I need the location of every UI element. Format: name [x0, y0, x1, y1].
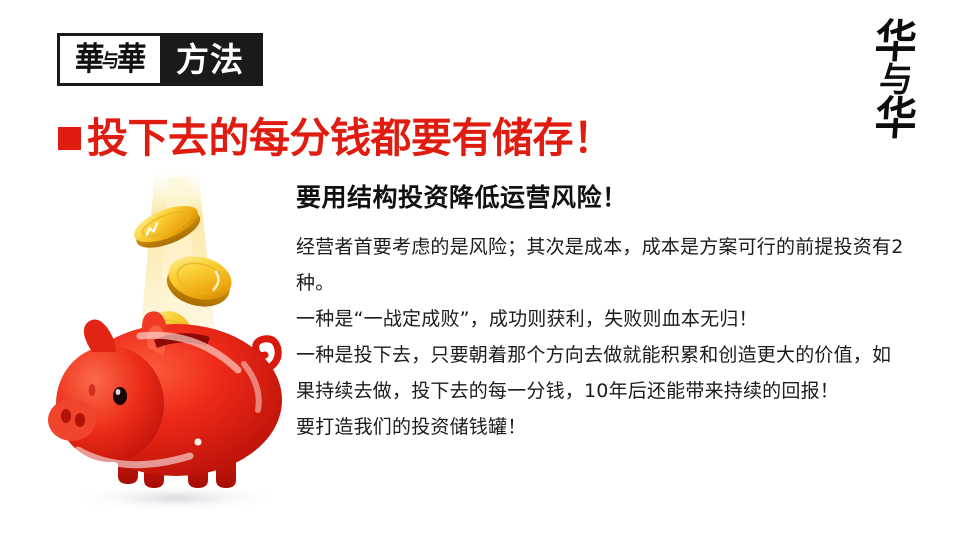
logo-mark-char-1: 華 — [74, 40, 104, 78]
copy-paragraph-2: 一种是“一战定成败”，成功则获利，失败则血本无归！ — [296, 301, 908, 337]
page-title: 投下去的每分钱都要有储存！ — [58, 112, 614, 164]
piggy-bank-body — [48, 311, 282, 488]
logo-wordmark: 方法 — [160, 43, 260, 76]
logo-mark-char-3: 華 — [116, 40, 146, 78]
headline-bullet-icon — [58, 127, 81, 150]
logo-mark-text: 華与華 — [74, 43, 146, 75]
piggy-snout — [48, 399, 96, 441]
slide-canvas: 華与華 方法 华 与 华 投下去的每分钱都要有储存！ — [0, 0, 960, 540]
piggy-eye — [113, 387, 127, 405]
copy-paragraph-3: 一种是投下去，只要朝着那个方向去做就能积累和创造更大的价值，如果持续去做，投下去… — [296, 337, 908, 409]
brand-vertical-calligraphy: 华 与 华 — [860, 20, 932, 140]
copy-heading: 要用结构投资降低运营风险！ — [296, 182, 908, 213]
body-copy: 要用结构投资降低运营风险！ 经营者首要考虑的是风险；其次是成本，成本是方案可行的… — [296, 182, 908, 445]
copy-paragraph-1: 经营者首要考虑的是风险；其次是成本，成本是方案可行的前提投资有2种。 — [296, 229, 908, 301]
headline-text: 投下去的每分钱都要有储存！ — [87, 118, 614, 159]
brand-vertical-char-3: 华 — [858, 96, 933, 143]
piggy-bank-illustration — [48, 168, 296, 516]
logo-calligraphy-mark: 華与華 — [60, 36, 160, 83]
piggy-ear-front — [84, 320, 116, 352]
copy-paragraph-4: 要打造我们的投资储钱罐！ — [296, 409, 908, 445]
brand-vertical-char-1: 华 — [858, 18, 933, 65]
piggy-shadow — [70, 484, 282, 512]
brand-logo: 華与華 方法 — [57, 33, 263, 86]
